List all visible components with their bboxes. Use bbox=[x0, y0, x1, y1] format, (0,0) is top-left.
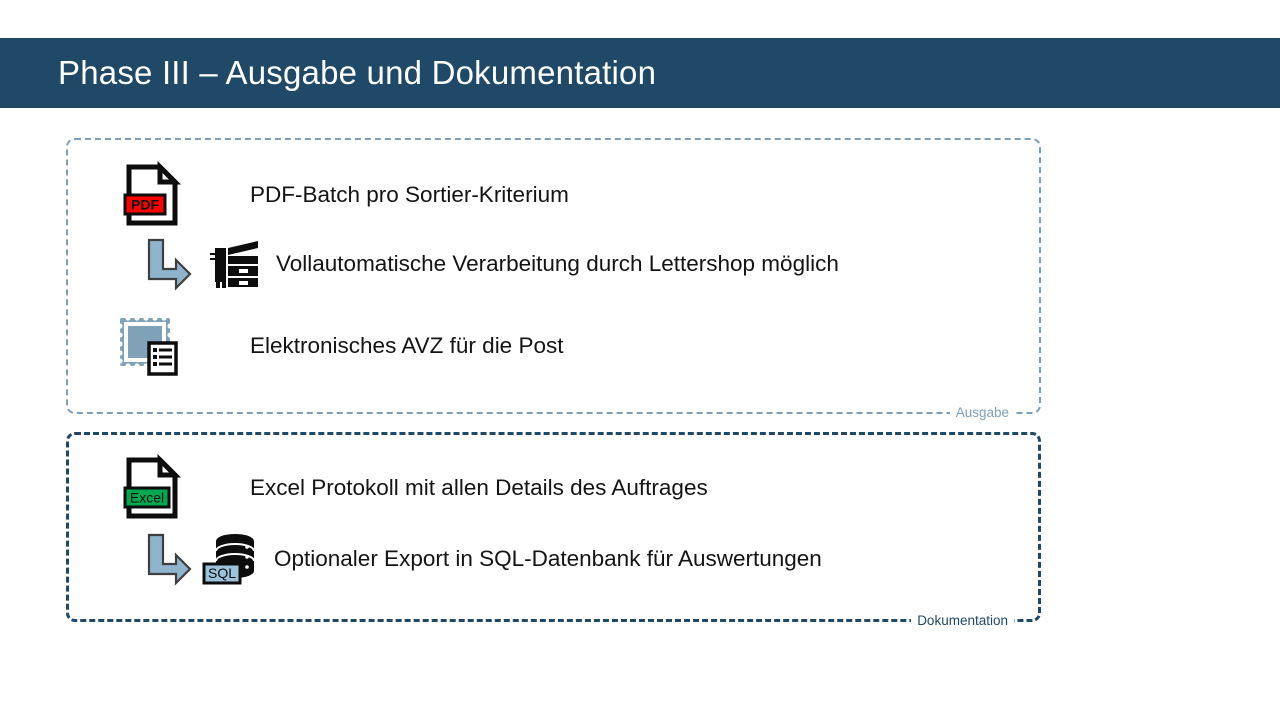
group-label-ausgabe: Ausgabe bbox=[950, 405, 1015, 421]
list-item-label: Optionaler Export in SQL-Datenbank für A… bbox=[274, 546, 822, 572]
page-title: Phase III – Ausgabe und Dokumentation bbox=[58, 54, 656, 92]
list-item-avz: Elektronisches AVZ für die Post bbox=[118, 316, 563, 376]
bent-arrow-icon bbox=[140, 533, 192, 585]
excel-file-icon: Excel bbox=[124, 457, 180, 519]
pdf-file-icon: PDF bbox=[124, 164, 180, 226]
list-item-label: Excel Protokoll mit allen Details des Au… bbox=[250, 475, 708, 501]
list-item-label: Vollautomatische Verarbeitung durch Lett… bbox=[276, 251, 839, 277]
slide-title-bar: Phase III – Ausgabe und Dokumentation bbox=[0, 38, 1280, 108]
sql-database-icon: SQL bbox=[202, 531, 260, 587]
bent-arrow-icon bbox=[140, 238, 192, 290]
list-item-label: PDF-Batch pro Sortier-Kriterium bbox=[250, 182, 569, 208]
printer-icon bbox=[202, 239, 260, 289]
postage-stamp-icon bbox=[118, 316, 180, 376]
list-item-pdf-batch: PDF PDF-Batch pro Sortier-Kriterium bbox=[124, 164, 569, 226]
group-label-dokumentation: Dokumentation bbox=[911, 613, 1014, 629]
list-item-excel-protokoll: Excel Excel Protokoll mit allen Details … bbox=[124, 457, 708, 519]
list-item-label: Elektronisches AVZ für die Post bbox=[250, 333, 563, 359]
list-item-lettershop: Vollautomatische Verarbeitung durch Lett… bbox=[140, 238, 839, 290]
slide-canvas: Phase III – Ausgabe und Dokumentation Au… bbox=[0, 0, 1280, 720]
list-item-sql-export: SQL Optionaler Export in SQL-Datenbank f… bbox=[140, 531, 822, 587]
svg-text:SQL: SQL bbox=[208, 565, 236, 581]
svg-text:Excel: Excel bbox=[130, 490, 164, 506]
svg-text:PDF: PDF bbox=[131, 197, 159, 213]
